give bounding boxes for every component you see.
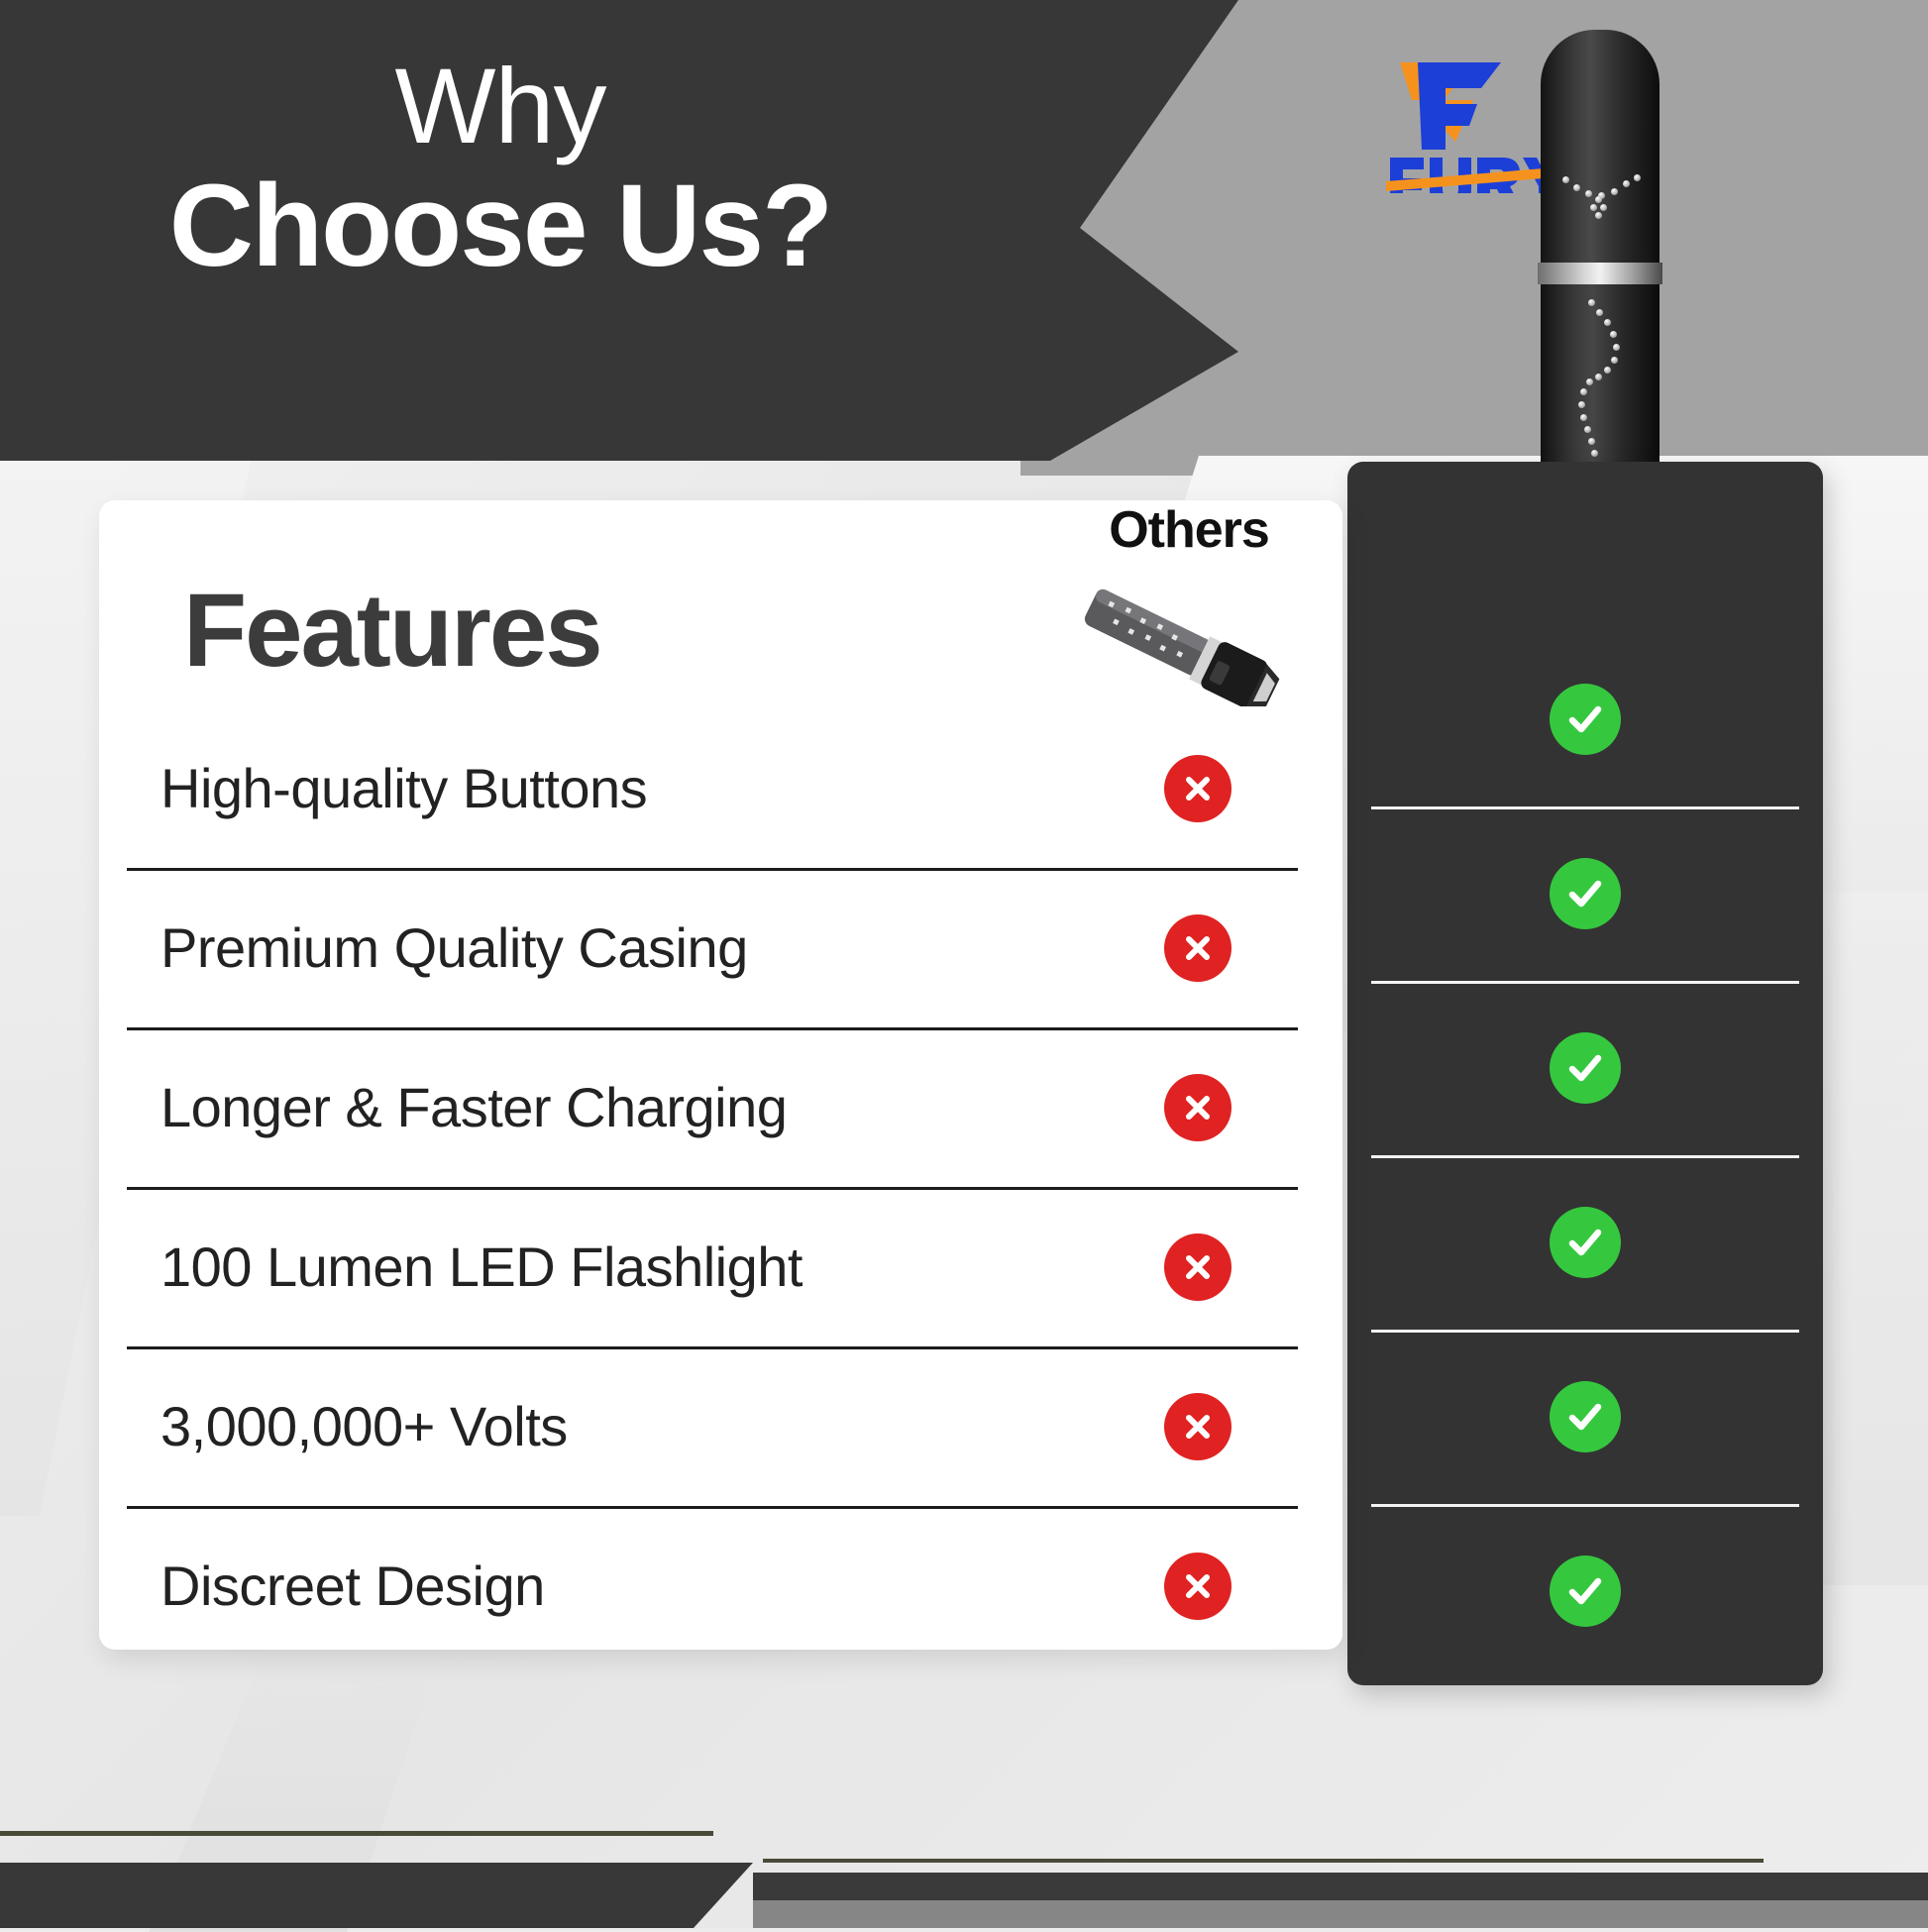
ours-row bbox=[1347, 632, 1823, 806]
table-row: 100 Lumen LED Flashlight bbox=[99, 1187, 1342, 1346]
others-column-label: Others bbox=[1080, 500, 1298, 560]
table-row: High-quality Buttons bbox=[99, 708, 1342, 868]
ours-row bbox=[1347, 1504, 1823, 1678]
infographic-stage: Why Choose Us? bbox=[0, 0, 1928, 1928]
feature-rows: High-quality Buttons Premium Quality Cas… bbox=[99, 708, 1342, 1665]
check-icon bbox=[1550, 1207, 1621, 1278]
comparison-card-header: Features Others bbox=[99, 500, 1342, 733]
row-divider bbox=[127, 1027, 1298, 1030]
cross-icon bbox=[1164, 1393, 1232, 1460]
row-divider bbox=[1371, 1330, 1799, 1333]
row-divider bbox=[127, 868, 1298, 871]
features-heading: Features bbox=[183, 572, 601, 691]
check-icon bbox=[1550, 1556, 1621, 1627]
title-line-2: Choose Us? bbox=[0, 166, 1001, 285]
ours-row bbox=[1347, 981, 1823, 1155]
row-divider bbox=[1371, 806, 1799, 809]
fury-product-image bbox=[1541, 30, 1660, 525]
feature-label: Premium Quality Casing bbox=[161, 915, 748, 980]
ours-panel bbox=[1347, 462, 1823, 1685]
ours-row bbox=[1347, 806, 1823, 981]
feature-label: 100 Lumen LED Flashlight bbox=[161, 1234, 803, 1299]
cross-icon bbox=[1164, 914, 1232, 982]
bottom-dark-shape-left bbox=[0, 1863, 753, 1928]
cross-icon bbox=[1164, 1553, 1232, 1620]
bottom-accent-line-right bbox=[763, 1859, 1764, 1863]
row-divider bbox=[1371, 981, 1799, 984]
check-icon bbox=[1550, 1381, 1621, 1452]
feature-label: Longer & Faster Charging bbox=[161, 1075, 787, 1139]
row-divider bbox=[1371, 1155, 1799, 1158]
cross-icon bbox=[1164, 1234, 1232, 1301]
cross-icon bbox=[1164, 755, 1232, 822]
check-icon bbox=[1550, 684, 1621, 755]
others-product-image bbox=[1055, 578, 1293, 706]
feature-label: 3,000,000+ Volts bbox=[161, 1394, 568, 1458]
feature-label: Discreet Design bbox=[161, 1554, 545, 1618]
product-silver-band bbox=[1538, 263, 1662, 284]
ours-check-column bbox=[1347, 632, 1823, 1678]
table-row: Discreet Design bbox=[99, 1506, 1342, 1665]
bottom-accent-line-left bbox=[0, 1831, 713, 1836]
row-divider bbox=[127, 1506, 1298, 1509]
table-row: Longer & Faster Charging bbox=[99, 1027, 1342, 1187]
check-icon bbox=[1550, 858, 1621, 929]
check-icon bbox=[1550, 1032, 1621, 1104]
cross-icon bbox=[1164, 1074, 1232, 1141]
ours-row bbox=[1347, 1155, 1823, 1330]
row-divider bbox=[127, 1187, 1298, 1190]
row-divider bbox=[1371, 1504, 1799, 1507]
title-line-1: Why bbox=[0, 52, 1001, 161]
table-row: 3,000,000+ Volts bbox=[99, 1346, 1342, 1506]
bottom-gray-strip bbox=[753, 1900, 1928, 1928]
feature-label: High-quality Buttons bbox=[161, 756, 647, 820]
ours-row bbox=[1347, 1330, 1823, 1504]
bottom-dark-shape-right bbox=[753, 1873, 1928, 1902]
comparison-card: Features Others bbox=[99, 500, 1342, 1650]
page-title: Why Choose Us? bbox=[0, 52, 1001, 286]
table-row: Premium Quality Casing bbox=[99, 868, 1342, 1027]
row-divider bbox=[127, 1346, 1298, 1349]
